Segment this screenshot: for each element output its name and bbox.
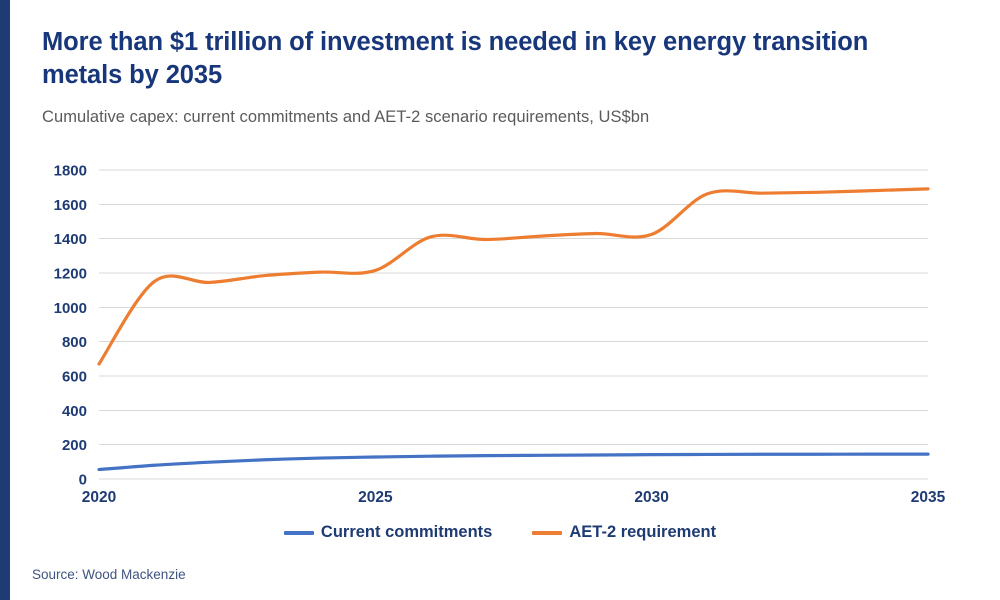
legend-swatch-current-commitments <box>284 531 314 535</box>
y-axis-tick-label: 1600 <box>54 197 87 214</box>
legend-label-current-commitments: Current commitments <box>321 523 492 542</box>
legend-item-current-commitments[interactable]: Current commitments <box>284 523 492 542</box>
x-axis-tick-label: 2025 <box>358 489 393 506</box>
x-axis-tick-labels: 2020202520302035 <box>82 489 946 506</box>
y-axis-tick-labels: 020040060080010001200140016001800 <box>54 163 87 489</box>
legend-item-aet2-requirement[interactable]: AET-2 requirement <box>532 523 716 542</box>
chart-legend: Current commitments AET-2 requirement <box>0 523 1000 542</box>
y-axis-tick-label: 200 <box>62 437 87 454</box>
data-series-group <box>99 189 928 470</box>
series-line-aet2-requirement <box>99 189 928 364</box>
y-axis-tick-label: 800 <box>62 334 87 351</box>
x-axis-tick-label: 2020 <box>82 489 116 506</box>
y-axis-tick-label: 1200 <box>54 266 87 283</box>
x-axis-tick-label: 2035 <box>911 489 946 506</box>
y-axis-tick-label: 600 <box>62 369 87 386</box>
y-axis-tick-label: 0 <box>79 472 87 489</box>
series-line-current-commitments <box>99 454 928 469</box>
y-axis-tick-label: 1400 <box>54 231 87 248</box>
chart-figure: More than $1 trillion of investment is n… <box>0 0 1000 600</box>
source-note: Source: Wood Mackenzie <box>32 567 186 582</box>
gridlines-group <box>99 170 928 479</box>
x-axis-tick-label: 2030 <box>634 489 668 506</box>
line-chart-svg: 020040060080010001200140016001800 202020… <box>0 0 1000 600</box>
y-axis-tick-label: 400 <box>62 403 87 420</box>
legend-label-aet2-requirement: AET-2 requirement <box>569 523 716 542</box>
legend-swatch-aet2-requirement <box>532 531 562 535</box>
plot-area: 020040060080010001200140016001800 202020… <box>0 0 1000 600</box>
y-axis-tick-label: 1000 <box>54 300 87 317</box>
y-axis-tick-label: 1800 <box>54 163 87 180</box>
